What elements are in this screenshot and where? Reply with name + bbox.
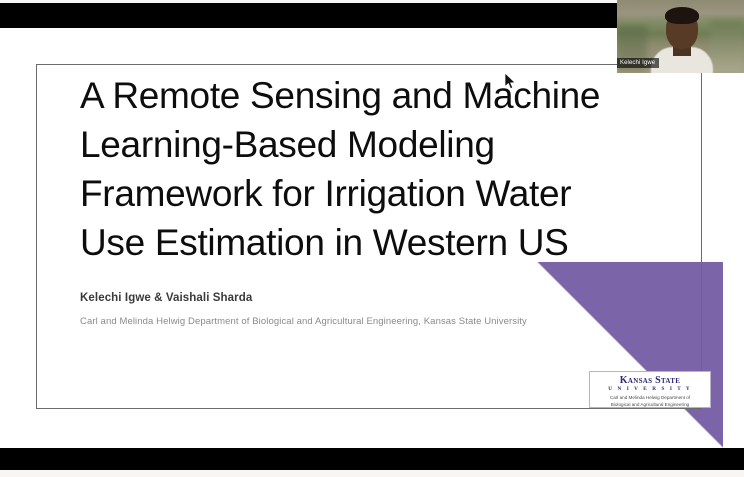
letterbox-patch-near-webcam	[600, 3, 617, 28]
logo-university-word: U N I V E R S I T Y	[590, 386, 710, 393]
logo-department-line-1: Carl and Melinda Helwig Department of	[590, 395, 710, 401]
kansas-state-university-logo: Kansas State U N I V E R S I T Y Carl an…	[589, 371, 711, 408]
presentation-slide: A Remote Sensing and Machine Learning-Ba…	[0, 28, 744, 448]
title-line-3: Framework for Irrigation Water	[80, 169, 640, 218]
webcam-participant-hair	[665, 7, 699, 24]
title-line-2: Learning-Based Modeling	[80, 120, 640, 169]
logo-university-name: Kansas State	[590, 375, 710, 386]
slide-affiliation: Carl and Melinda Helwig Department of Bi…	[80, 316, 527, 327]
webcam-video-tile[interactable]: Kelechi Igwe	[617, 0, 744, 73]
slide-title: A Remote Sensing and Machine Learning-Ba…	[80, 71, 640, 267]
screen-share-viewport: A Remote Sensing and Machine Learning-Ba…	[0, 0, 744, 477]
letterbox-bar-bottom	[0, 448, 744, 470]
logo-department-line-2: Biological and Agricultural Engineering	[590, 402, 710, 408]
title-line-1: A Remote Sensing and Machine	[80, 71, 640, 120]
slide-authors: Kelechi Igwe & Vaishali Sharda	[80, 292, 252, 304]
webcam-background-blur-right	[710, 20, 744, 73]
webcam-participant-name-label: Kelechi Igwe	[617, 58, 659, 68]
title-line-4: Use Estimation in Western US	[80, 218, 640, 267]
